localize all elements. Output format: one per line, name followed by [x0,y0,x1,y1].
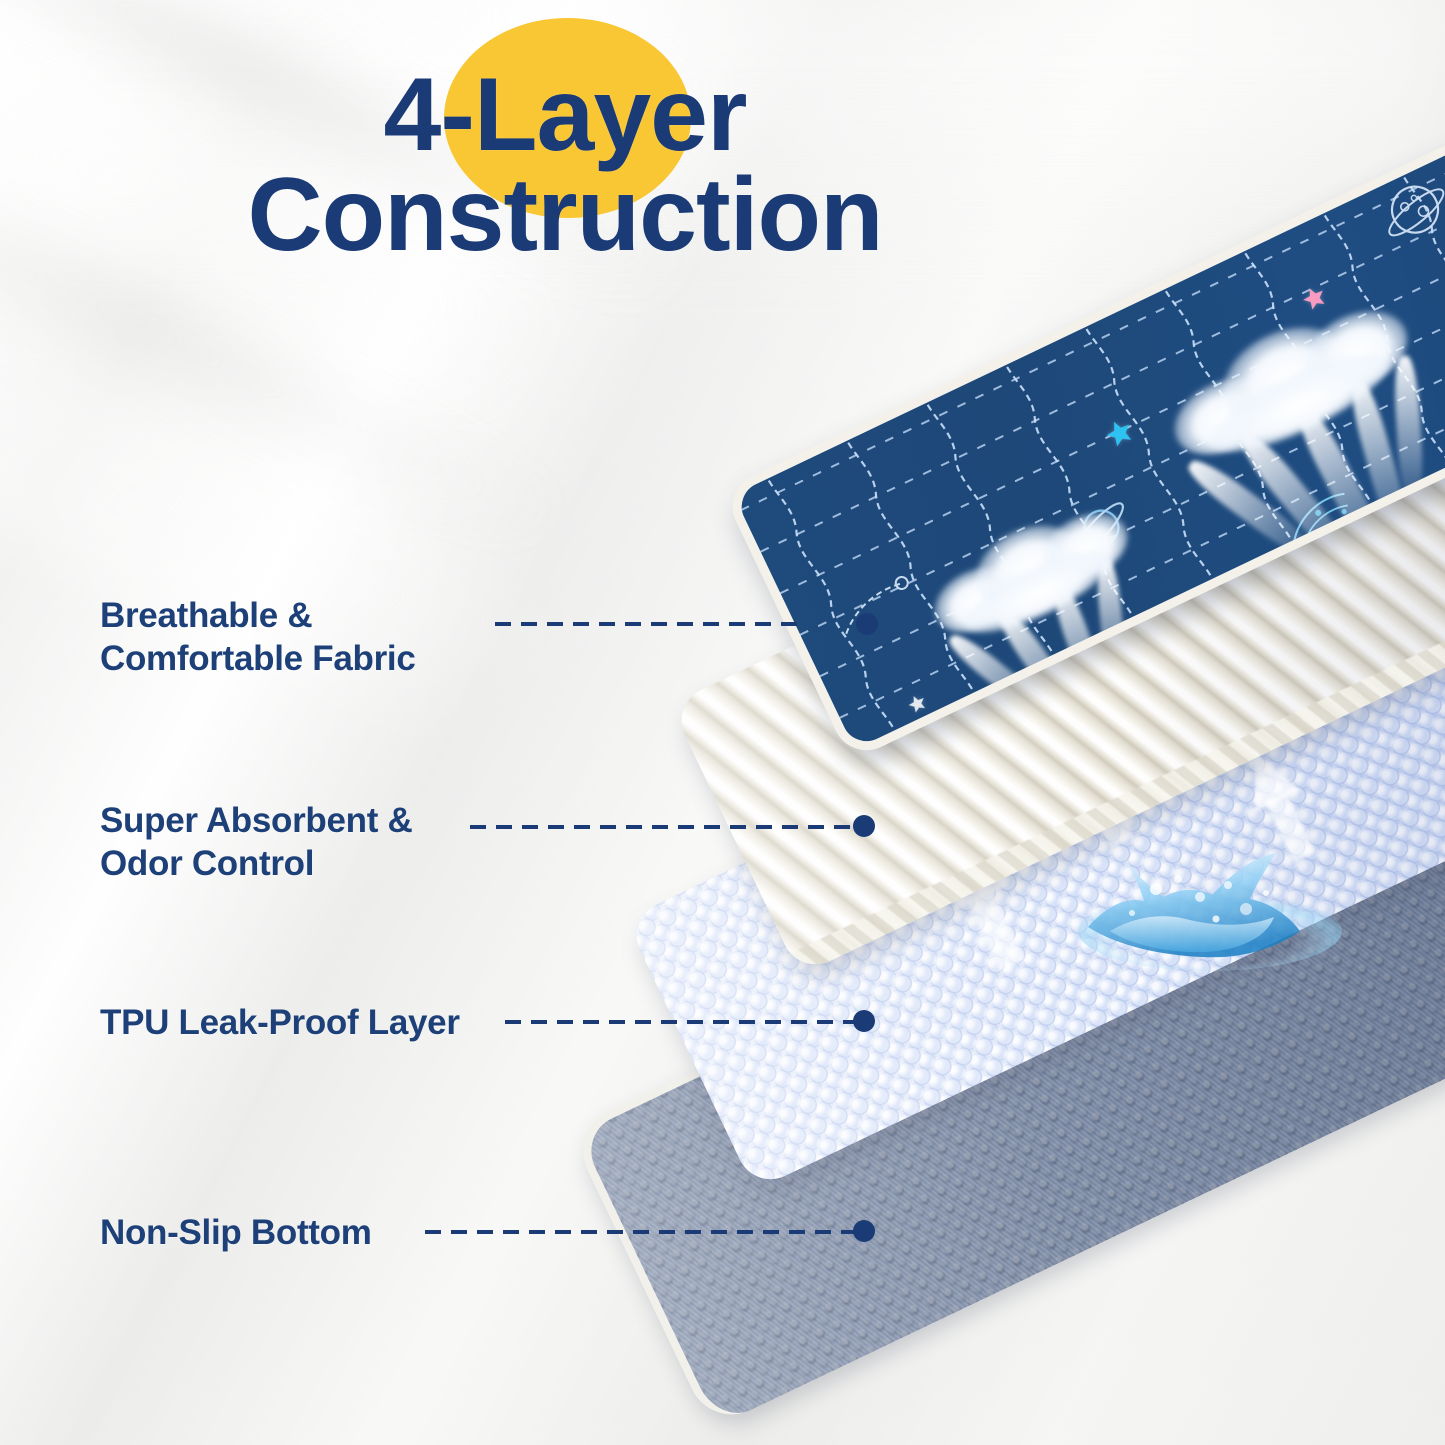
leader-line-non-slip-bottom [425,1230,855,1234]
light-streak-3 [0,240,552,761]
callout-label-non-slip-bottom: Non-Slip Bottom [100,1212,372,1255]
leader-line-super-absorbent [470,825,855,829]
title-line-2: Construction [0,166,1130,266]
callout-label-breathable-fabric: Breathable & Comfortable Fabric [100,595,415,680]
leader-dot-non-slip-bottom [853,1220,875,1242]
page-title: 4-Layer Construction [0,0,1130,266]
leader-dot-tpu-leak-proof [853,1010,875,1032]
leader-dot-breathable-fabric [856,613,878,635]
callout-label-tpu-leak-proof: TPU Leak-Proof Layer [100,1002,460,1045]
callout-label-super-absorbent: Super Absorbent & Odor Control [100,800,413,885]
leader-line-tpu-leak-proof [505,1020,855,1024]
title-line-1: 4-Layer [0,66,1130,166]
comet-icon [828,568,926,648]
leader-line-breathable-fabric [495,622,807,626]
leader-dot-super-absorbent [853,815,875,837]
infographic-canvas: 4-Layer Construction Breathable & Comfor… [0,0,1445,1445]
